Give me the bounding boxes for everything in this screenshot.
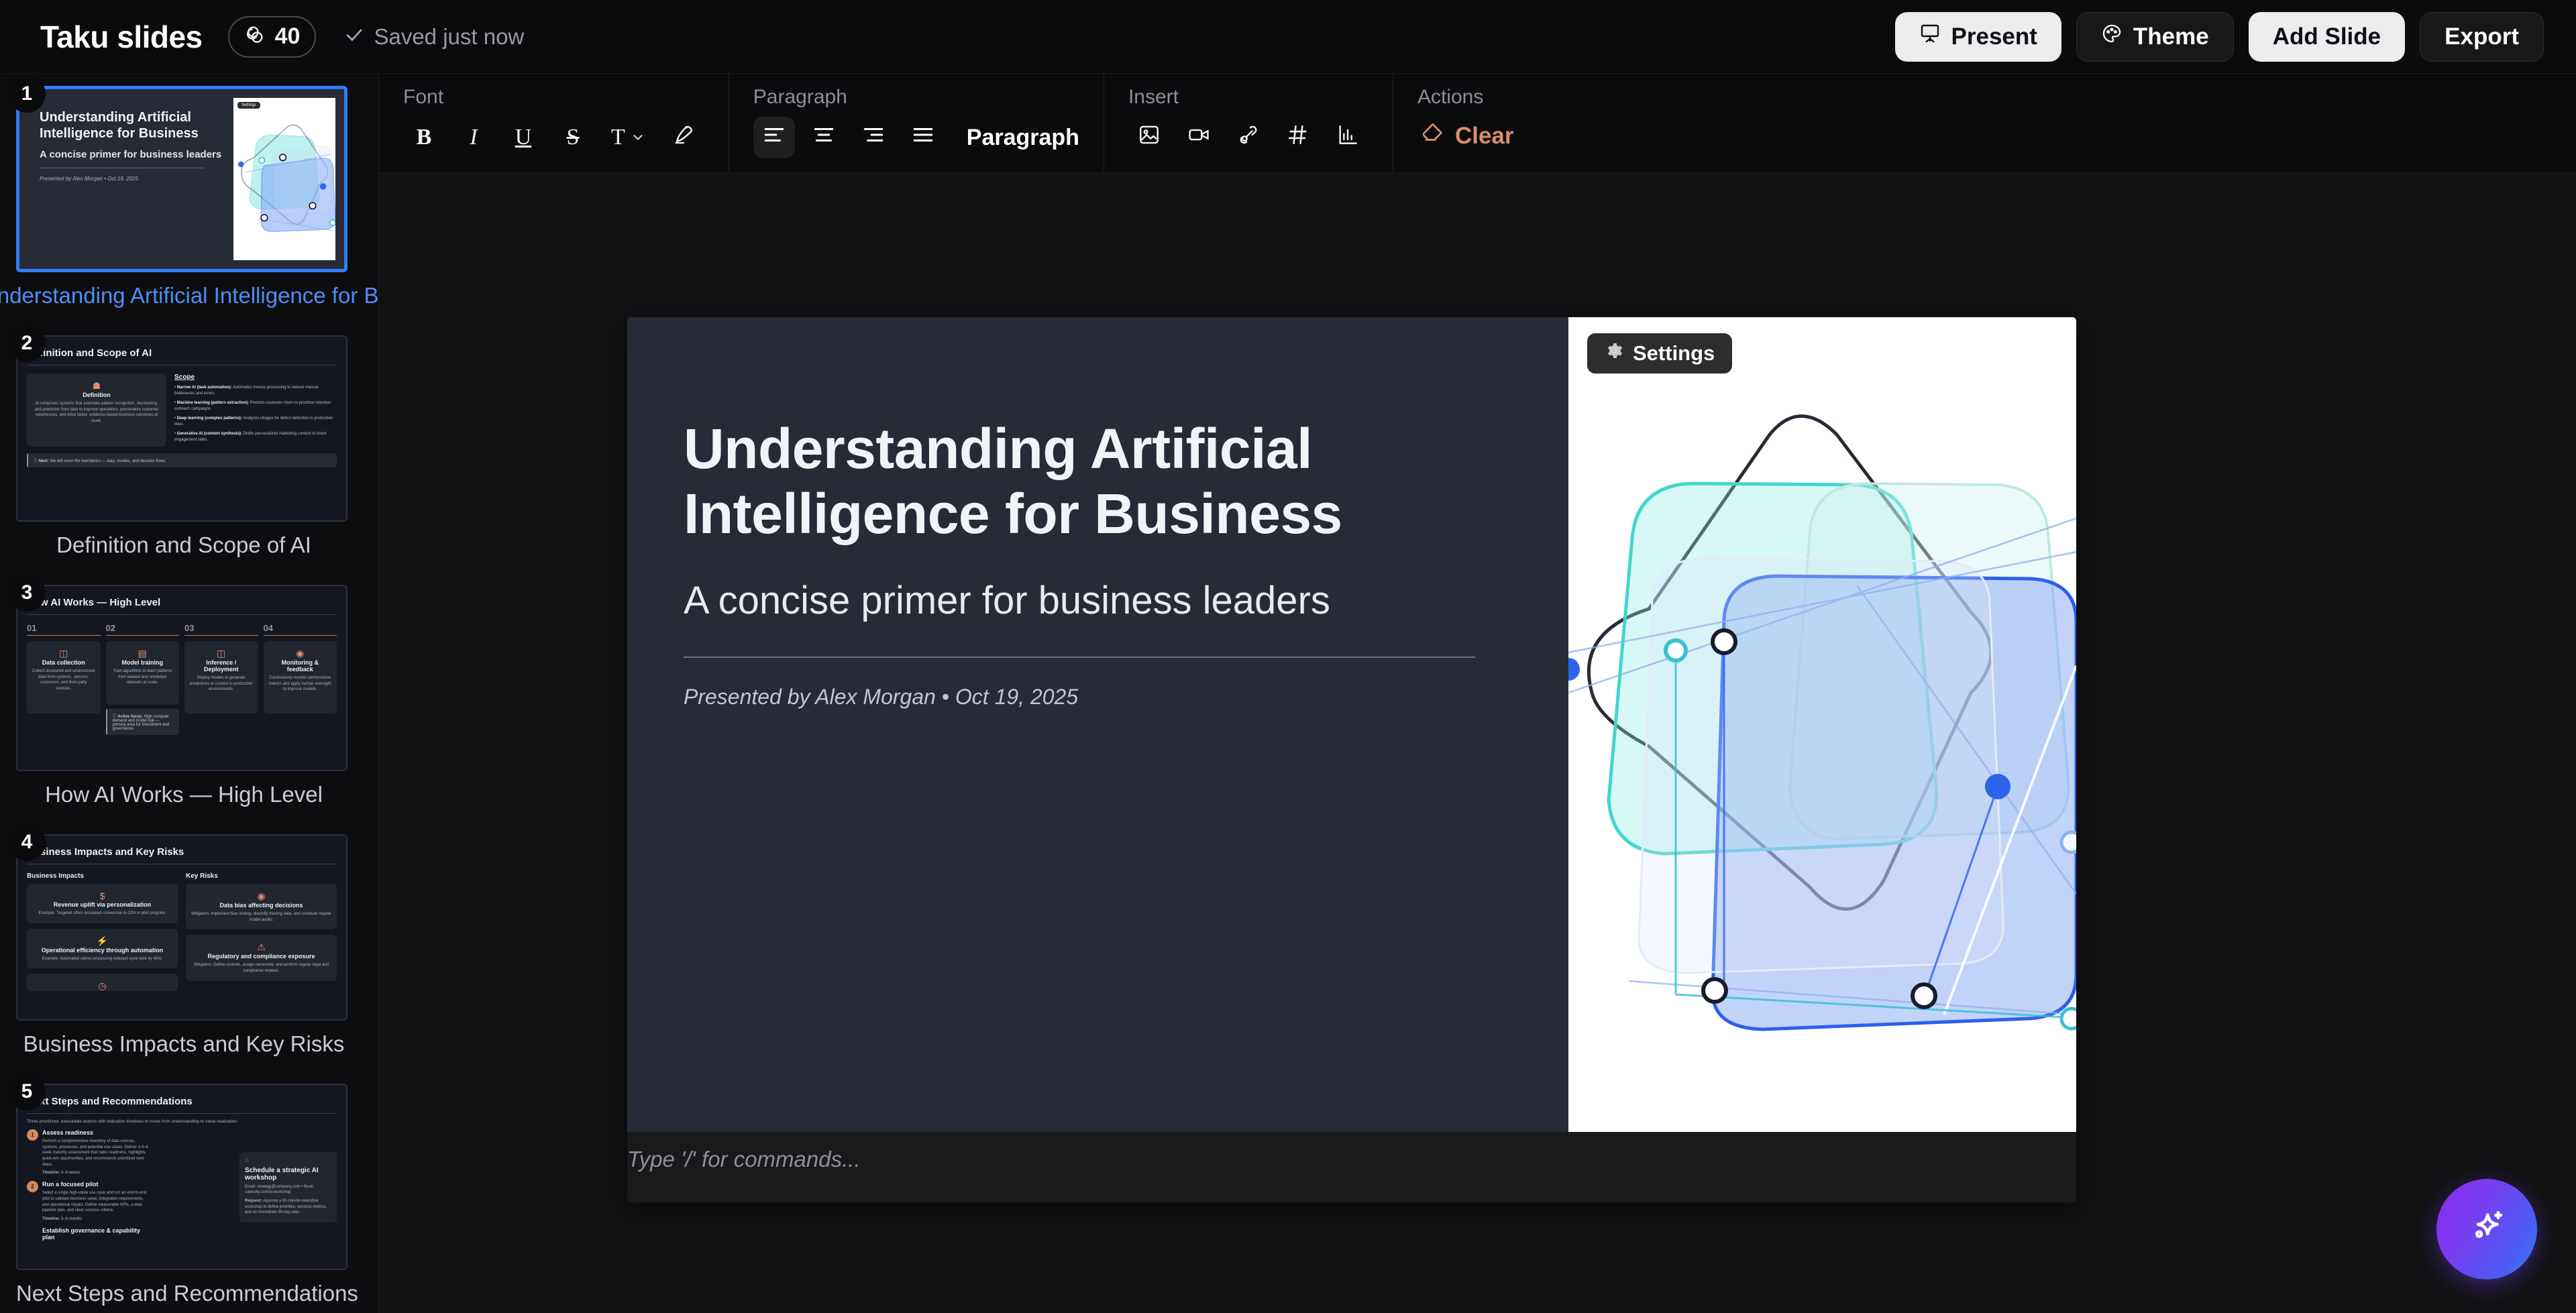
impacts-column: Business Impacts $ Revenue uplift via pe… [27, 872, 178, 991]
risk-card: ⚠ Regulatory and compliance exposure Mit… [186, 935, 337, 980]
list-item: • Generative AI (content synthesis): Dra… [174, 431, 337, 443]
slide-thumbnail-preview[interactable]: Next Steps and Recommendations Three pri… [16, 1084, 347, 1270]
thumb-subtitle: A concise primer for business leaders [40, 149, 233, 160]
next-note: ⓘ Next: We will cover the mechanics — da… [27, 453, 337, 467]
step-head: Establish governance & capability plan [42, 1227, 151, 1241]
thumb-divider [27, 614, 337, 615]
scope-heading: Scope [174, 374, 337, 381]
active-focus-note: ⓘ Active focus: High compute demand and … [106, 709, 180, 735]
present-button[interactable]: Present [1895, 12, 2061, 62]
list-item: 3 Establish governance & capability plan [27, 1227, 151, 1241]
align-left-button[interactable] [753, 117, 795, 158]
step-head: Assess readiness [42, 1129, 151, 1136]
slide-thumbnail-preview[interactable]: Understanding Artificial Intelligence fo… [16, 86, 347, 272]
thumb-artwork: Settings [233, 98, 335, 260]
impact-head: Revenue uplift via personalization [32, 901, 172, 908]
dollar-icon: $ [32, 891, 172, 901]
insert-link-button[interactable] [1228, 117, 1269, 158]
text-style-dropdown[interactable]: T [602, 117, 655, 158]
risks-heading: Key Risks [186, 872, 337, 880]
step-body: Continuously monitor performance metrics… [269, 675, 332, 693]
impact-body: Example: Automated claims processing red… [32, 956, 172, 962]
slide-surface[interactable]: Understanding Artificial Intelligence fo… [627, 317, 2076, 1132]
sidebar-slide-1[interactable]: 1 Understanding Artificial Intelligence … [16, 86, 352, 308]
align-right-icon [862, 123, 885, 152]
definition-card: ☗ Definition AI comprises systems that a… [27, 374, 166, 447]
database-icon: ◫ [32, 648, 95, 659]
cta-contact: Email: strategy@company.com • Book: cale… [245, 1184, 331, 1196]
add-slide-button[interactable]: Add Slide [2249, 12, 2405, 62]
thumb-title: Next Steps and Recommendations [27, 1096, 337, 1107]
align-center-icon [812, 123, 835, 152]
thumb-title: How AI Works — High Level [27, 597, 337, 608]
slide-thumbnail-preview[interactable]: Definition and Scope of AI ☗ Definition … [16, 335, 347, 522]
step-card: ▤ Model training Train algorithms to lea… [106, 641, 180, 705]
sidebar-slide-4-caption: Business Impacts and Key Risks [16, 1031, 352, 1057]
bullet-term: Narrow AI (task automation): [177, 386, 232, 390]
definition-card-body: AI comprises systems that automate patte… [32, 401, 161, 424]
thumb-lead: Three prioritized, executable actions wi… [27, 1119, 337, 1124]
sidebar-slide-2-caption: Definition and Scope of AI [16, 532, 352, 558]
risk-body: Mitigation: Define controls, assign owne… [191, 962, 331, 974]
strikethrough-button[interactable]: S [552, 117, 594, 158]
clear-button-label: Clear [1455, 123, 1514, 150]
insert-video-button[interactable] [1178, 117, 1220, 158]
list-item: 1 Assess readiness Perform a comprehensi… [27, 1129, 151, 1176]
definition-card-title: Definition [32, 392, 161, 398]
align-justify-button[interactable] [902, 117, 944, 158]
step-number-pill: 2 [27, 1181, 38, 1192]
sparkles-icon [2466, 1207, 2508, 1252]
artwork-svg [1568, 317, 2076, 1132]
step-number: 01 [27, 623, 101, 633]
clear-button[interactable]: Clear [1417, 117, 1517, 155]
step-column: 02 ▤ Model training Train algorithms to … [106, 623, 180, 735]
thumb-meta: Presented by Alex Morgan • Oct 19, 2025 [40, 176, 233, 182]
step-head: Data collection [32, 659, 95, 666]
hash-icon [1287, 123, 1309, 152]
step-body: Perform a comprehensive inventory of dat… [42, 1139, 151, 1167]
bold-button[interactable]: B [403, 117, 445, 158]
credits-badge[interactable]: 40 [228, 16, 317, 58]
risk-body: Mitigation: Implement bias testing, dive… [191, 911, 331, 923]
slide-thumbnail-preview[interactable]: How AI Works — High Level 01 ◫ Data coll… [16, 585, 347, 771]
steps-column: 1 Assess readiness Perform a comprehensi… [27, 1129, 151, 1241]
step-body: Select a single high-value use case and … [42, 1190, 151, 1214]
step-column: 04 ◉ Monitoring & feedback Continuously … [264, 623, 337, 735]
help-circle-icon: ⓘ [245, 1159, 331, 1165]
slide-number-badge: 5 [8, 1073, 46, 1110]
thumb-divider [27, 365, 337, 365]
chart-icon [1336, 123, 1359, 152]
slide-thumbnail-preview[interactable]: Business Impacts and Key Risks Business … [16, 834, 347, 1021]
step-rule [264, 635, 337, 636]
sidebar-slide-3-caption: How AI Works — High Level [16, 782, 352, 807]
eye-icon: ◉ [191, 891, 331, 902]
impact-head: Operational efficiency through automatio… [32, 947, 172, 954]
toolbar-group-insert-label: Insert [1128, 86, 1368, 109]
paragraph-style-label[interactable]: Paragraph [967, 125, 1079, 151]
chip-icon: ▤ [111, 648, 174, 659]
cta-head: Schedule a strategic AI workshop [245, 1167, 331, 1182]
impacts-heading: Business Impacts [27, 872, 178, 880]
coins-icon [244, 23, 267, 50]
thumb-divider [40, 168, 204, 168]
timeline-term: Timeline: [42, 1171, 60, 1175]
slide-editor-card[interactable]: Understanding Artificial Intelligence fo… [627, 317, 2076, 1202]
align-justify-icon [912, 123, 934, 152]
clock-icon: ◷ [32, 980, 172, 992]
slide-subtitle[interactable]: A concise primer for business leaders [684, 578, 1568, 623]
list-item: • Narrow AI (task automation): Automates… [174, 385, 337, 397]
thumb-divider [27, 864, 337, 864]
step-number: 04 [264, 623, 337, 633]
slide-title[interactable]: Understanding Artificial Intelligence fo… [684, 416, 1475, 547]
risk-head: Data bias affecting decisions [191, 902, 331, 909]
credits-count: 40 [275, 23, 301, 50]
image-icon [1138, 123, 1161, 152]
shield-alert-icon: ⚠ [191, 941, 331, 953]
sidebar-slide-3[interactable]: 3 How AI Works — High Level 01 ◫ Data co… [16, 585, 352, 807]
saved-text: Saved just now [374, 24, 524, 50]
impact-card: ⚡ Operational efficiency through automat… [27, 929, 178, 969]
cta-request-term: Request: [245, 1199, 262, 1203]
step-body: Train algorithms to learn patterns from … [111, 669, 174, 686]
toolbar-group-actions-label: Actions [1417, 86, 1517, 109]
server-icon: ◫ [190, 648, 253, 659]
impact-card: $ Revenue uplift via personalization Exa… [27, 884, 178, 923]
saved-status: Saved just now [344, 24, 524, 50]
slide-number-badge: 3 [8, 574, 46, 612]
list-item: 2 Run a focused pilot Select a single hi… [27, 1181, 151, 1222]
align-right-button[interactable] [853, 117, 894, 158]
theme-button-label: Theme [2133, 23, 2209, 50]
top-bar-actions: Present Theme Add Slide Export [1895, 12, 2544, 62]
thumb-title: Understanding Artificial Intelligence fo… [40, 109, 233, 141]
highlighter-icon [672, 123, 695, 152]
step-body: Collect structured and unstructured data… [32, 669, 95, 692]
toolbar-group-actions: Actions Clear [1393, 74, 1541, 172]
bullet-term: Machine learning (pattern extraction): [177, 401, 249, 405]
formatting-toolbar: Font B I U S T Paragraph [379, 74, 2576, 173]
italic-button[interactable]: I [453, 117, 494, 158]
step-body: Deploy models to generate predictions or… [190, 675, 253, 693]
sidebar-slide-5[interactable]: 5 Next Steps and Recommendations Three p… [16, 1084, 352, 1306]
timeline-value: 4–6 weeks [60, 1171, 80, 1175]
video-icon [1187, 123, 1210, 152]
step-column: 03 ◫ Inference / Deployment Deploy model… [184, 623, 258, 735]
command-input-placeholder[interactable]: Type '/' for commands... [627, 1147, 2076, 1172]
step-number: 02 [106, 623, 180, 633]
risk-head: Regulatory and compliance exposure [191, 953, 331, 960]
timeline-value: 3–6 months [60, 1217, 82, 1221]
toolbar-group-insert: Insert [1104, 74, 1393, 172]
align-center-button[interactable] [803, 117, 845, 158]
slide-thumbnail-sidebar[interactable]: 1 Understanding Artificial Intelligence … [0, 74, 379, 1313]
text-size-icon: T [611, 125, 625, 150]
slide-number-badge: 2 [8, 325, 46, 362]
toolbar-group-font-label: Font [403, 86, 704, 109]
cta-card: ⓘ Schedule a strategic AI workshop Email… [239, 1152, 337, 1222]
insert-heading-button[interactable] [1277, 117, 1319, 158]
step-rule [27, 635, 101, 636]
export-button-label: Export [2445, 23, 2519, 50]
bullet-term: Deep learning (complex patterns): [177, 416, 242, 420]
bolt-icon: ⚡ [32, 935, 172, 947]
slide-divider [684, 656, 1475, 658]
gear-icon [1605, 341, 1623, 365]
step-rule [106, 635, 180, 636]
sidebar-slide-5-caption: Next Steps and Recommendations [16, 1281, 352, 1306]
app-title: Taku slides [40, 19, 203, 55]
thumb-divider [27, 1113, 337, 1114]
note-term: Next: [39, 459, 49, 463]
highlighter-button[interactable] [663, 117, 704, 158]
step-head: Run a focused pilot [42, 1181, 151, 1188]
chevron-down-icon [631, 125, 645, 151]
step-head: Inference / Deployment [190, 659, 253, 673]
step-column: 01 ◫ Data collection Collect structured … [27, 623, 101, 735]
slide-number-badge: 1 [8, 75, 46, 113]
slide-command-bar[interactable]: Type '/' for commands... [627, 1132, 2076, 1202]
insert-chart-button[interactable] [1327, 117, 1368, 158]
palette-icon [2101, 23, 2123, 50]
sidebar-slide-1-caption: Understanding Artificial Intelligence fo… [0, 283, 352, 308]
present-button-label: Present [1951, 23, 2037, 50]
list-item: • Deep learning (complex patterns): Anal… [174, 416, 337, 428]
align-left-icon [763, 123, 786, 152]
top-bar: Taku slides 40 Saved just now Present Th… [0, 0, 2576, 74]
check-icon [344, 25, 364, 48]
step-card: ◫ Data collection Collect structured and… [27, 641, 101, 713]
step-rule [184, 635, 258, 636]
toolbar-group-font: Font B I U S T [379, 74, 729, 172]
step-head: Model training [111, 659, 174, 666]
underline-button[interactable]: U [502, 117, 544, 158]
insert-image-button[interactable] [1128, 117, 1170, 158]
abstract-geometric-illustration[interactable]: Settings [1568, 317, 2076, 1132]
brain-icon: ☗ [32, 380, 161, 392]
step-card: ◉ Monitoring & feedback Continuously mon… [264, 641, 337, 713]
image-settings-button[interactable]: Settings [1587, 333, 1732, 374]
timeline-term: Timeline: [42, 1217, 60, 1221]
impact-body: Example: Targeted offers increased conve… [32, 911, 172, 917]
sidebar-slide-2[interactable]: 2 Definition and Scope of AI ☗ Definitio… [16, 335, 352, 558]
slide-meta[interactable]: Presented by Alex Morgan • Oct 19, 2025 [684, 685, 1568, 709]
thumb-title: Business Impacts and Key Risks [27, 846, 337, 858]
sidebar-slide-4[interactable]: 4 Business Impacts and Key Risks Busines… [16, 834, 352, 1057]
note-text: We will cover the mechanics — data, mode… [49, 459, 166, 463]
info-icon: ⓘ [34, 459, 38, 463]
slide-text-column[interactable]: Understanding Artificial Intelligence fo… [627, 317, 1568, 1132]
link-icon [1237, 123, 1260, 152]
scope-column: Scope • Narrow AI (task automation): Aut… [174, 374, 337, 447]
editor-canvas: Understanding Artificial Intelligence fo… [379, 173, 2576, 1313]
impact-card: ◷ [27, 974, 178, 991]
export-button[interactable]: Export [2420, 12, 2544, 62]
eye-icon: ◉ [269, 648, 332, 659]
risks-column: Key Risks ◉ Data bias affecting decision… [186, 872, 337, 991]
step-card: ◫ Inference / Deployment Deploy models t… [184, 641, 258, 713]
ai-assistant-fab[interactable] [2436, 1179, 2537, 1279]
risk-card: ◉ Data bias affecting decisions Mitigati… [186, 884, 337, 929]
toolbar-group-paragraph: Paragraph Paragra [729, 74, 1104, 172]
slide-number-badge: 4 [8, 823, 46, 861]
add-slide-button-label: Add Slide [2273, 23, 2381, 50]
eraser-icon [1420, 121, 1444, 151]
thumb-title: Definition and Scope of AI [27, 347, 337, 359]
step-head: Monitoring & feedback [269, 659, 332, 673]
list-item: • Machine learning (pattern extraction):… [174, 400, 337, 412]
step-number: 03 [184, 623, 258, 633]
bullet-term: Generative AI (content synthesis): [177, 432, 242, 436]
toolbar-group-paragraph-label: Paragraph [753, 86, 1079, 109]
step-number-pill: 1 [27, 1129, 38, 1141]
image-settings-label: Settings [1633, 341, 1715, 365]
theme-button[interactable]: Theme [2076, 12, 2234, 62]
present-screen-icon [1919, 23, 1941, 50]
